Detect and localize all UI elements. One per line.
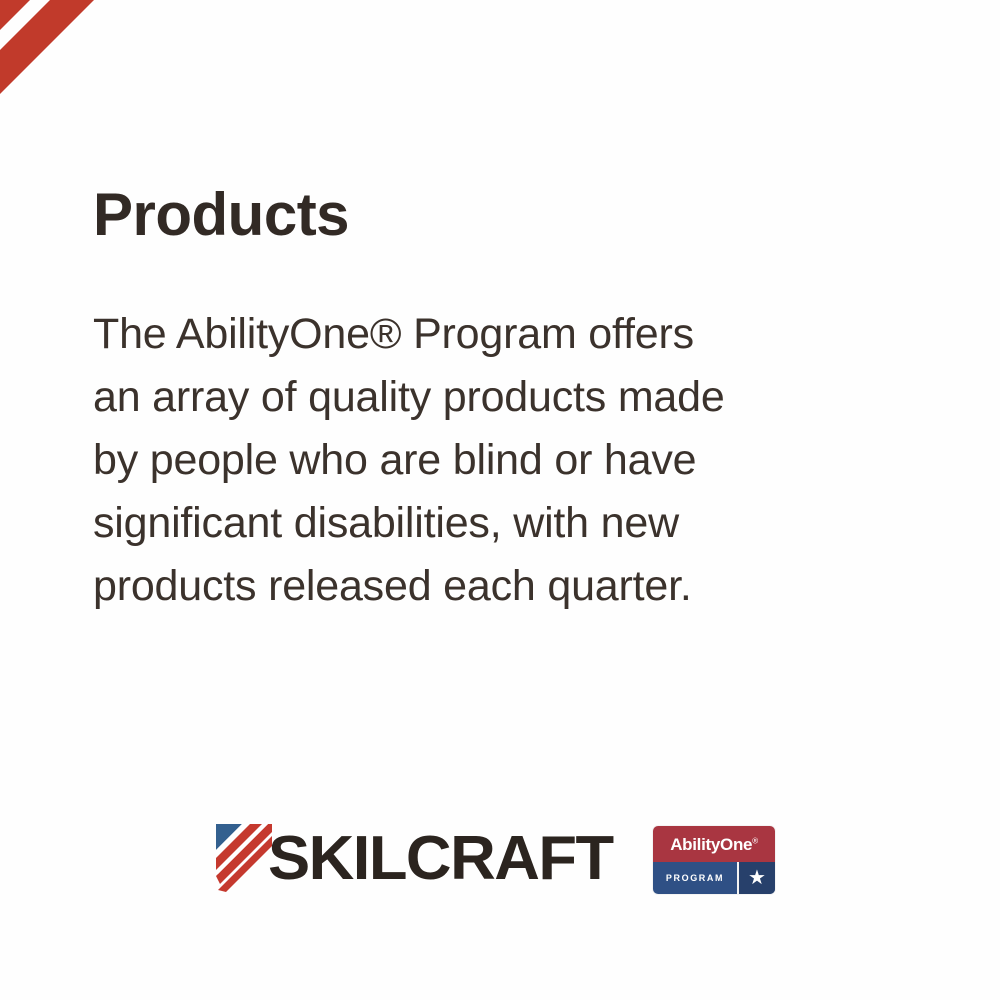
product-info-card: Products The AbilityOne® Program offers … [0, 0, 1000, 1000]
body-copy: The AbilityOne® Program offers an array … [93, 303, 833, 618]
card-content: Products The AbilityOne® Program offers … [93, 185, 893, 618]
skilcraft-wordmark: SKILCRAFT [268, 824, 613, 894]
body-copy-line-5: products released each quarter. [93, 555, 833, 618]
abilityone-wordmark-text: AbilityOne [670, 835, 752, 854]
abilityone-wordmark: AbilityOne® [670, 836, 758, 853]
flag-red-stripes [0, 0, 194, 190]
registered-mark: ® [752, 836, 758, 845]
body-copy-line-2: an array of quality products made [93, 366, 833, 429]
flag-blue-wedge [0, 0, 88, 88]
body-copy-line-4: significant disabilities, with new [93, 492, 833, 555]
abilityone-logo-bottom: PROGRAM ★ [653, 862, 775, 894]
skilcraft-logo: SKILCRAFT [216, 824, 606, 894]
skilcraft-flag-mark-icon [216, 824, 272, 894]
abilityone-star-box: ★ [737, 862, 775, 894]
star-icon: ★ [748, 868, 766, 888]
footer-logos: SKILCRAFT AbilityOne® PROGRAM ★ [0, 818, 1000, 928]
abilityone-logo: AbilityOne® PROGRAM ★ [653, 826, 775, 894]
body-copy-line-3: by people who are blind or have [93, 429, 833, 492]
abilityone-program-label: PROGRAM [653, 862, 737, 894]
page-title: Products [93, 185, 893, 245]
abilityone-logo-top: AbilityOne® [653, 826, 775, 862]
body-copy-line-1: The AbilityOne® Program offers [93, 303, 833, 366]
